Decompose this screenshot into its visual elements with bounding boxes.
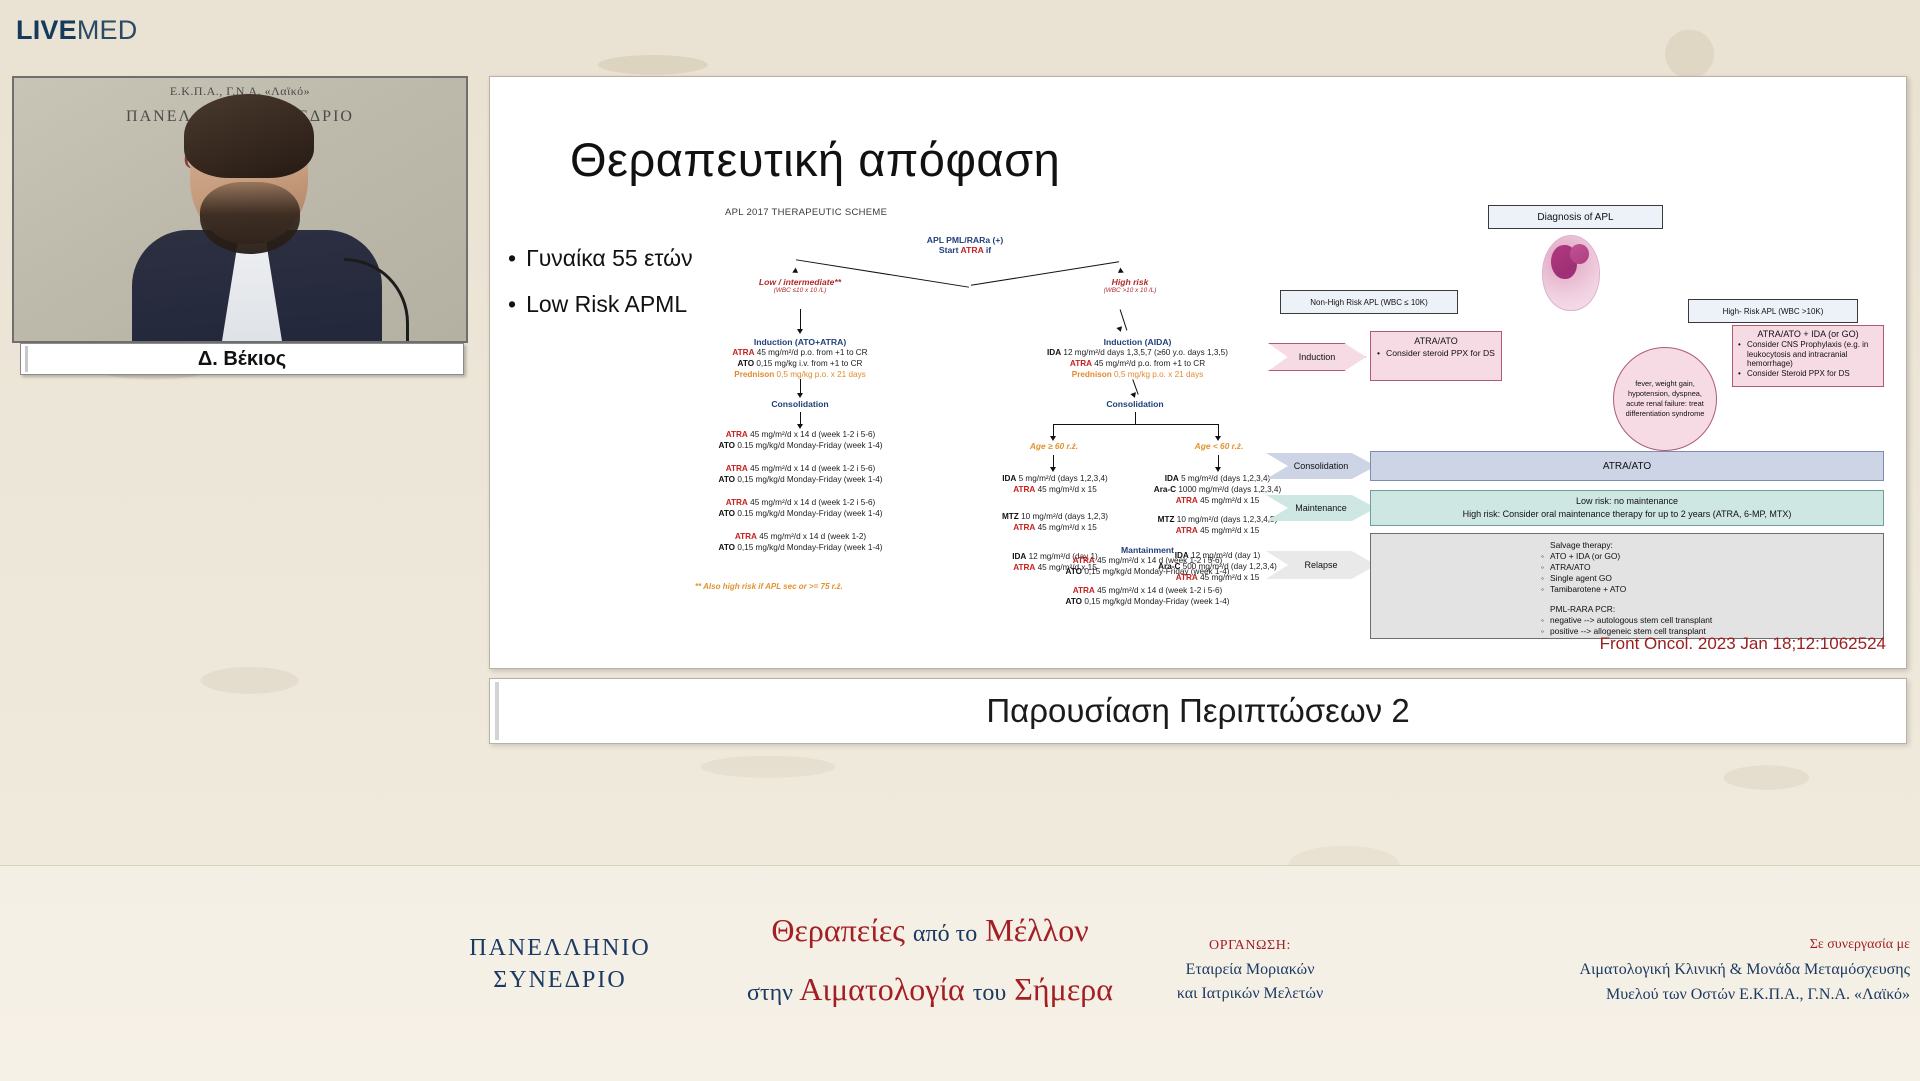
relapse-box: Salvage therapy: ATO + IDA (or GO) ATRA/… <box>1370 533 1884 639</box>
non-high-risk-box: Non-High Risk APL (WBC ≤ 10K) <box>1280 290 1458 314</box>
left-risk-sub: (WBC ≤10 x 10 /L) <box>705 287 895 294</box>
list-item: Consider steroid PPX for DS <box>1377 348 1495 359</box>
left-cons-block: ATO 0,15 mg/kg/d Monday-Friday (week 1-4… <box>683 474 918 485</box>
right-consolidation-title: Consolidation <box>1035 399 1235 409</box>
right-induction-line: ATRA 45 mg/m²/d p.o. from +1 to CR <box>1005 358 1270 369</box>
salvage-items: ATO + IDA (or GO) ATRA/ATO Single agent … <box>1541 551 1883 595</box>
left-cons-block: ATO 0,15 mg/kg/d Monday-Friday (week 1-4… <box>683 542 918 553</box>
video-player[interactable]: Ε.Κ.Π.Α., Γ.Ν.Α. «Λαϊκό» ΠΑΝΕΛΛΗΝΙΟ ΣΥΝΕ… <box>12 76 468 343</box>
speaker-name-plate: Δ. Βέκιος <box>20 343 464 375</box>
theme-word-hematology: Αιματολογία <box>799 971 965 1007</box>
logo-bold: LIVE <box>16 15 77 45</box>
apl-algorithm-diagram: Diagnosis of APL Non-High Risk APL (WBC … <box>1280 195 1890 655</box>
list-item: Consider Steroid PPX for DS <box>1738 369 1878 379</box>
apl-flowchart: APL 2017 THERAPEUTIC SCHEME APL PML/RARa… <box>705 207 1345 647</box>
age-left-block: ATRA 45 mg/m²/d x 15 <box>985 484 1125 495</box>
maintainment-block: ATO 0,15 mg/kg/d Monday-Friday (week 1-4… <box>1030 566 1265 577</box>
induction-high-title: ATRA/ATO + IDA (or GO) <box>1738 329 1878 339</box>
age-left-block: IDA 5 mg/m²/d (days 1,2,3,4) <box>985 473 1125 484</box>
cooperation-line1: Αιματολογική Κλινική & Μονάδα Μεταμόσχευ… <box>1390 957 1910 982</box>
high-risk-box: High- Risk APL (WBC >10K) <box>1688 299 1858 323</box>
slide-bullet-list: •Γυναίκα 55 ετών •Low Risk APML <box>508 245 738 337</box>
organizer-line2: και Ιατρικών Μελετών <box>1140 982 1360 1006</box>
slide-title: Θεραπευτική απόφαση <box>570 132 1570 187</box>
footer-theme-line2: στην Αιματολογία του Σήμερα <box>700 971 1160 1008</box>
induction-high-box: ATRA/ATO + IDA (or GO) Consider CNS Prop… <box>1732 325 1884 387</box>
maintainment-block: ATRA 45 mg/m²/d x 14 d (week 1-2 i 5-6) <box>1030 555 1265 566</box>
left-induction-title: Induction (ATO+ATRA) <box>700 337 900 347</box>
pcr-header: PML-RARA PCR: <box>1541 604 1883 615</box>
left-cons-block: ATRA 45 mg/m²/d x 14 d (week 1-2 i 5-6) <box>683 497 918 508</box>
band-accent <box>495 682 499 740</box>
speaker-beard <box>200 182 300 254</box>
maintainment-block: ATRA 45 mg/m²/d x 14 d (week 1-2 i 5-6) <box>1030 585 1265 596</box>
livemed-logo: LIVEMED <box>16 15 137 46</box>
induction-nonhigh-box: ATRA/ATO Consider steroid PPX for DS <box>1370 331 1502 381</box>
left-induction-line: ATO 0,15 mg/kg i.v. from +1 to CR <box>700 358 900 369</box>
differentiation-syndrome-circle: fever, weight gain, hypotension, dyspnea… <box>1613 347 1717 451</box>
stage-induction-chevron: Induction <box>1268 343 1366 371</box>
induction-high-items: Consider CNS Prophylaxis (e.g. in leukoc… <box>1738 340 1878 378</box>
bullet-dot-icon: • <box>508 291 516 318</box>
list-item: •Γυναίκα 55 ετών <box>508 245 738 272</box>
footer-cooperation: Σε συνεργασία με Αιματολογική Κλινική & … <box>1390 932 1910 1007</box>
left-induction-line: ATRA 45 mg/m²/d p.o. from +1 to CR <box>700 347 900 358</box>
cooperation-line2: Μυελού των Οστών Ε.Κ.Π.Α., Γ.Ν.Α. «Λαϊκό… <box>1390 982 1910 1007</box>
apl-cell-image <box>1542 235 1600 311</box>
age-left-block: MTZ 10 mg/m²/d (days 1,2,3) <box>985 511 1125 522</box>
stage-consolidation-chevron: Consolidation <box>1266 453 1376 479</box>
list-item: •Low Risk APML <box>508 291 738 318</box>
footer-theme: Θεραπείες από το Μέλλον στην Αιματολογία… <box>700 912 1160 1008</box>
left-cons-block: ATRA 45 mg/m²/d x 14 d (week 1-2) <box>683 531 918 542</box>
list-item: Consider CNS Prophylaxis (e.g. in leukoc… <box>1738 340 1878 369</box>
stage-relapse-chevron: Relapse <box>1266 551 1376 579</box>
footer-congress-line2: ΣΥΝΕΔΡΙΟ <box>455 964 665 996</box>
left-cons-block: ATRA 45 mg/m²/d x 14 d (week 1-2 i 5-6) <box>683 463 918 474</box>
logo-light: MED <box>77 15 138 45</box>
page-footer: ΠΑΝΕΛΛΗΝΙΟ ΣΥΝΕΔΡΙΟ Θεραπείες από το Μέλ… <box>0 872 1920 1080</box>
salvage-header: Salvage therapy: <box>1541 540 1883 551</box>
maintenance-bar: Low risk: no maintenance High risk: Cons… <box>1370 490 1884 526</box>
organizer-header: ΟΡΓΑΝΩΣΗ: <box>1140 934 1360 958</box>
list-item: Tamibarotene + ATO <box>1541 584 1883 595</box>
session-title: Παρουσίαση Περιπτώσεων 2 <box>986 692 1409 730</box>
right-induction-title: Induction (AIDA) <box>1005 337 1270 347</box>
left-consolidation-title: Consolidation <box>700 399 900 409</box>
flowchart-footnote: ** Also high risk if APL sec or >= 75 r.… <box>695 582 843 591</box>
induction-nonhigh-title: ATRA/ATO <box>1377 336 1495 346</box>
footer-congress-name: ΠΑΝΕΛΛΗΝΙΟ ΣΥΝΕΔΡΙΟ <box>455 932 665 996</box>
flowchart-root-line2: Start ATRA if <box>880 245 1050 255</box>
footer-congress-line1: ΠΑΝΕΛΛΗΝΙΟ <box>455 932 665 964</box>
age-left-block: ATRA 45 mg/m²/d x 15 <box>985 522 1125 533</box>
consolidation-bar: ATRA/ATO <box>1370 451 1884 481</box>
stage-maintenance-chevron: Maintenance <box>1266 495 1376 521</box>
right-risk-sub: (WBC >10 x 10 /L) <box>1035 287 1225 294</box>
cooperation-header: Σε συνεργασία με <box>1390 932 1910 957</box>
footer-organizer: ΟΡΓΑΝΩΣΗ: Εταιρεία Μοριακών και Ιατρικών… <box>1140 934 1360 1006</box>
theme-word-of: του <box>973 980 1007 1006</box>
induction-nonhigh-items: Consider steroid PPX for DS <box>1377 348 1495 359</box>
name-plate-accent <box>25 346 28 372</box>
age-right-label: Age < 60 r.ż. <box>1175 441 1263 451</box>
bullet-text: Low Risk APML <box>526 291 687 318</box>
list-item: Single agent GO <box>1541 573 1883 584</box>
list-item: negative --> autologous stem cell transp… <box>1541 615 1883 626</box>
right-induction-line: Prednison 0,5 mg/kg p.o. x 21 days <box>1005 369 1270 380</box>
age-right-block: ATRA 45 mg/m²/d x 15 <box>1135 525 1300 536</box>
list-item: ATO + IDA (or GO) <box>1541 551 1883 562</box>
flowchart-heading: APL 2017 THERAPEUTIC SCHEME <box>725 207 887 218</box>
slide-citation: Front Oncol. 2023 Jan 18;12:1062524 <box>1600 634 1886 654</box>
bullet-text: Γυναίκα 55 ετών <box>526 245 693 272</box>
speaker-hair <box>184 94 314 178</box>
age-left-label: Age ≥ 60 r.ż. <box>1010 441 1098 451</box>
session-title-band: Παρουσίαση Περιπτώσεων 2 <box>489 678 1907 744</box>
organizer-line1: Εταιρεία Μοριακών <box>1140 958 1360 982</box>
left-cons-block: ATO 0.15 mg/kg/d Monday-Friday (week 1-4… <box>683 508 918 519</box>
maintenance-line-2: High risk: Consider oral maintenance the… <box>1371 508 1883 521</box>
age-right-block: Ara-C 1000 mg/m²/d (days 1,2,3,4) <box>1135 484 1300 495</box>
bullet-dot-icon: • <box>508 245 516 272</box>
maintainment-title: Mantainment <box>1030 545 1265 555</box>
theme-word-from: από το <box>913 921 977 947</box>
theme-word-today: Σήμερα <box>1014 971 1113 1007</box>
theme-word-therapies: Θεραπείες <box>771 912 905 948</box>
left-cons-block: ATO 0.15 mg/kg/d Monday-Friday (week 1-4… <box>683 440 918 451</box>
maintainment-block: ATO 0,15 mg/kg/d Monday-Friday (week 1-4… <box>1030 596 1265 607</box>
maintenance-line-1: Low risk: no maintenance <box>1371 495 1883 508</box>
list-item: ATRA/ATO <box>1541 562 1883 573</box>
theme-word-future: Μέλλον <box>985 912 1088 948</box>
theme-word-in: στην <box>747 980 793 1006</box>
left-cons-block: ATRA 45 mg/m²/d x 14 d (week 1-2 i 5-6) <box>683 429 918 440</box>
left-risk-label: Low / intermediate** <box>705 277 895 287</box>
speaker-name: Δ. Βέκιος <box>198 348 286 371</box>
right-risk-label: High risk <box>1035 277 1225 287</box>
diagnosis-box: Diagnosis of APL <box>1488 205 1663 229</box>
flowchart-root-line1: APL PML/RARa (+) <box>880 235 1050 245</box>
presentation-slide[interactable]: Θεραπευτική απόφαση •Γυναίκα 55 ετών •Lo… <box>489 76 1907 669</box>
footer-theme-line1: Θεραπείες από το Μέλλον <box>700 912 1160 949</box>
right-induction-line: IDA 12 mg/m²/d days 1,3,5,7 (≥60 y.o. da… <box>1005 347 1270 358</box>
